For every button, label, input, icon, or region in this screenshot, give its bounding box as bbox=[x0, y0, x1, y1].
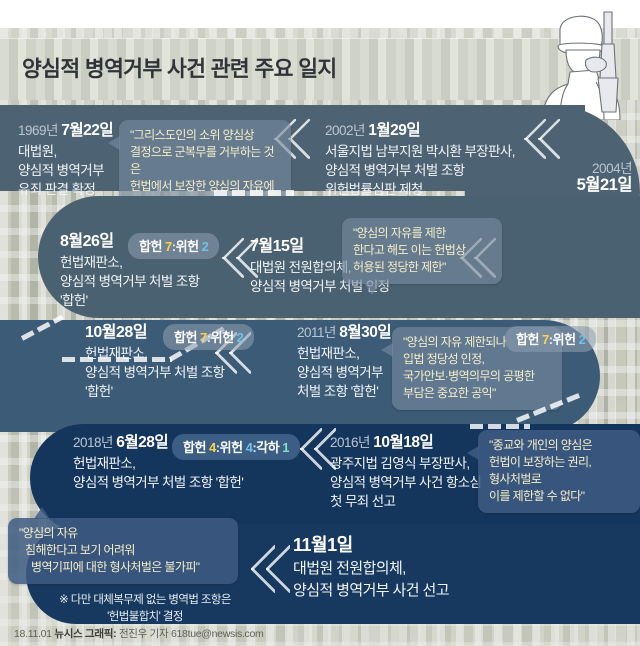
footer-byline: 전진우 기자 618tue@newsis.com bbox=[119, 628, 264, 640]
note-line: '헌법불합치' 결정 bbox=[30, 609, 260, 626]
connector-dash bbox=[470, 424, 530, 429]
quote-line: 헌법이 보장하는 권리, bbox=[489, 454, 629, 471]
entry-line: 양심적 병역거부 bbox=[18, 161, 113, 180]
quote-line: 부담은 중요한 공익" bbox=[403, 385, 551, 402]
footer-credit: 18.11.01 뉴시스 그래픽: 전진우 기자 618tue@newsis.c… bbox=[14, 626, 264, 641]
vote-badge-2011-08: 합헌 7:위헌 2 bbox=[505, 326, 596, 352]
entry-date: 2004년 5월21일 bbox=[470, 160, 632, 194]
vote-badge-2018: 합헌 4:위헌 4:각하 1 bbox=[172, 434, 300, 460]
quote-line: 입법 정당성 인정, bbox=[403, 351, 551, 368]
quote-bubble-2016: "종교와 개인의 양심은 헌법이 보장하는 권리, 형사처벌로 이를 제한할 수… bbox=[478, 430, 640, 513]
quote-bubble-2018: "양심의 자유 침해한다고 보기 어려워 병역기피에 대한 형사처벌은 불가피" bbox=[8, 518, 238, 584]
infographic-canvas: 양심적 병역거부 사건 관련 주요 일지 1969년 7월22일 bbox=[0, 0, 640, 646]
quote-line: "종교와 개인의 양심은 bbox=[489, 437, 629, 454]
quote-line: 이를 제한할 수 없다" bbox=[489, 488, 629, 505]
timeline-entry-2018-11-01: 11월1일 대법원 전원합의체, 양심적 병역거부 사건 선고 bbox=[293, 536, 449, 602]
connector-dash bbox=[214, 190, 294, 196]
entry-line: 양심적 병역거부 처벌 조항 bbox=[85, 363, 224, 382]
entry-date: 1969년 7월22일 bbox=[18, 122, 113, 140]
quote-line: "양심의 자유 bbox=[19, 525, 227, 542]
entry-line: 양심적 병역거부 사건 선고 bbox=[293, 580, 449, 602]
entry-line: 처벌 조항 '합헌' bbox=[297, 382, 391, 401]
quote-line: 형사처벌로 bbox=[489, 471, 629, 488]
entry-line: 대법원 전원합의체, bbox=[293, 558, 449, 580]
footer-source: 뉴시스 그래픽: bbox=[54, 628, 116, 640]
quote-line: "그리스도인의 소위 양심상 bbox=[130, 127, 280, 144]
entry-line: '합헌' bbox=[60, 291, 199, 310]
entry-line: 서울지법 남부지원 박시환 부장판사, bbox=[325, 142, 515, 161]
entry-line: 광주지법 김영식 부장판사, bbox=[330, 454, 481, 473]
footer-date: 18.11.01 bbox=[14, 628, 52, 640]
quote-line: 병역기피에 대한 형사처벌은 불가피" bbox=[19, 559, 227, 576]
entry-line: 대법원, bbox=[18, 142, 113, 161]
page-title: 양심적 병역거부 사건 관련 주요 일지 bbox=[22, 52, 492, 86]
note-line: ※ 다만 대체복무제 없는 병역법 조항은 bbox=[30, 592, 260, 609]
timeline-entry-2011-08-30: 2011년 8월30일 헌법재판소, 양심적 병역거부 처벌 조항 '합헌' bbox=[297, 324, 391, 401]
quote-line: 한다고 해도 이는 헌법상 bbox=[353, 242, 491, 259]
entry-line: 헌법재판소, bbox=[297, 344, 391, 363]
entry-line: 양심적 병역거부 처벌 조항 '합헌' bbox=[73, 473, 243, 492]
entry-line: 양심적 병역거부 사건 항소심 bbox=[330, 473, 481, 492]
entry-date: 2016년 10월18일 bbox=[330, 434, 481, 452]
entry-date: 2011년 8월30일 bbox=[297, 324, 391, 342]
quote-line: 결정으로 군복무를 거부하는 것은 bbox=[130, 144, 280, 178]
timeline-entry-1969-07-22: 1969년 7월22일 대법원, 양심적 병역거부 유죄 판결 확정 bbox=[18, 122, 113, 199]
soldier-illustration bbox=[516, 0, 636, 120]
footnote-2018: ※ 다만 대체복무제 없는 병역법 조항은 '헌법불합치' 결정 bbox=[30, 592, 260, 626]
entry-date: 2002년 1월29일 bbox=[325, 122, 515, 140]
quote-line: 국가안보·병역의무의 공평한 bbox=[403, 368, 551, 385]
chevron-separator bbox=[538, 119, 560, 159]
timeline-entry-2016-10-18: 2016년 10월18일 광주지법 김영식 부장판사, 양심적 병역거부 사건 … bbox=[330, 434, 481, 511]
chevron-separator bbox=[266, 545, 290, 593]
vote-badge-2004: 합헌 7:위헌 2 bbox=[128, 233, 219, 259]
entry-line: 양심적 병역거부 처벌 조항 bbox=[60, 272, 199, 291]
quote-line: "양심의 자유를 제한 bbox=[353, 225, 491, 242]
entry-date: 11월1일 bbox=[293, 536, 449, 556]
entry-line: '합헌' bbox=[85, 382, 224, 401]
quote-line: 허용된 정당한 제한" bbox=[353, 259, 491, 276]
entry-line: 첫 무죄 선고 bbox=[330, 492, 481, 511]
vote-badge-2011-10: 합헌 7:위헌 2 bbox=[163, 324, 254, 350]
quote-line: 침해한다고 보기 어려워 bbox=[19, 542, 227, 559]
entry-line: 양심적 병역거부 bbox=[297, 363, 391, 382]
chevron-separator bbox=[288, 119, 310, 159]
quote-bubble-2004-07: "양심의 자유를 제한 한다고 해도 이는 헌법상 허용된 정당한 제한" bbox=[342, 218, 502, 284]
